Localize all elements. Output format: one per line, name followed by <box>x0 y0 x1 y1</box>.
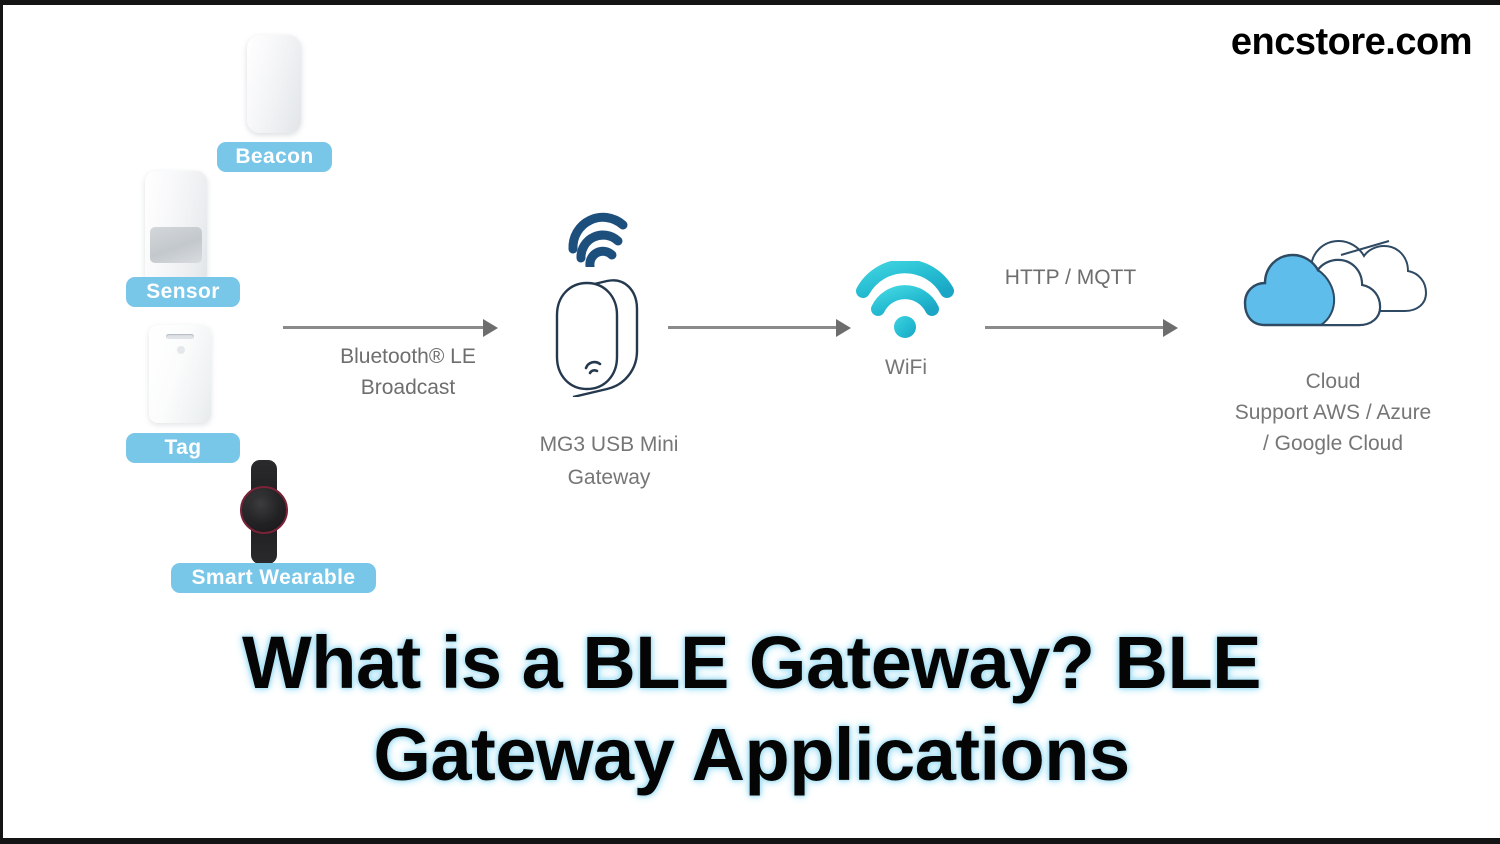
site-watermark: encstore.com <box>1231 21 1472 64</box>
node-label-cloud-line1: Cloud <box>1218 367 1448 397</box>
link-label-ble-line2: Broadcast <box>283 373 533 403</box>
device-label-smart-wearable: Smart Wearable <box>171 563 376 593</box>
wifi-icon <box>851 261 961 346</box>
node-label-wifi: WiFi <box>831 353 981 383</box>
ble-tag-icon <box>149 325 211 423</box>
node-label-cloud-line3: / Google Cloud <box>1198 429 1468 459</box>
node-label-gateway-line2: Gateway <box>484 463 734 493</box>
node-label-cloud-line2: Support AWS / Azure <box>1198 398 1468 428</box>
cloud-icon <box>1243 215 1433 360</box>
diagram-canvas: encstore.com Beacon Sensor Tag Smart Wea… <box>0 0 1500 844</box>
device-label-sensor: Sensor <box>126 277 240 307</box>
bluetooth-signal-icon <box>565 211 645 272</box>
device-label-tag: Tag <box>126 433 240 463</box>
page-title: What is a BLE Gateway? BLE Gateway Appli… <box>3 617 1500 801</box>
link-label-ble-line1: Bluetooth® LE <box>283 342 533 372</box>
node-label-gateway-line1: MG3 USB Mini <box>484 430 734 460</box>
beacon-icon <box>247 35 301 133</box>
link-label-http-mqtt: HTTP / MQTT <box>968 263 1173 293</box>
motion-sensor-icon <box>145 171 207 281</box>
page-title-line2: Gateway Applications <box>3 709 1500 801</box>
smartwatch-icon <box>251 460 277 564</box>
device-label-beacon: Beacon <box>217 142 332 172</box>
page-title-line1: What is a BLE Gateway? BLE <box>3 617 1500 709</box>
ble-gateway-icon <box>543 275 655 402</box>
